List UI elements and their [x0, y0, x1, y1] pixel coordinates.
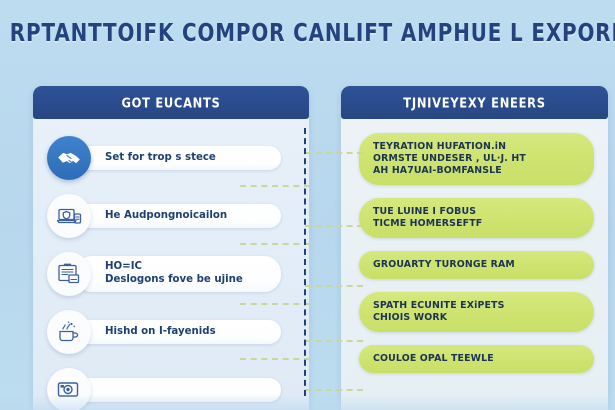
cup-steam-icon: [47, 310, 91, 354]
list-item-sublabel: ORMSTE UNDESER , UL·J. HT: [373, 153, 580, 165]
connector-branch-right-2: [305, 225, 363, 227]
poster-title: RPTANTTOIFK COMPOR CANLIFT AMPHUE L EXPO…: [10, 18, 615, 47]
right-column-panel: TJNIVEYEXY ENEERS TEYRATION HUFATION.iN …: [341, 86, 608, 410]
clipboard-document-icon: [47, 252, 91, 296]
connector-branch-left-4: [240, 358, 310, 360]
list-item[interactable]: TEYRATION HUFATION.iN ORMSTE UNDESER , U…: [359, 133, 594, 185]
list-item-label: Set for trop s stece: [105, 152, 265, 165]
list-item-label: TUE LUINE I FOBUS: [373, 206, 580, 218]
list-item-label: He Audpongnoicailon: [105, 210, 265, 223]
connector-branch-right-5: [305, 389, 363, 391]
connector-branch-left-1: [240, 185, 310, 187]
connector-branch-right-1: [305, 152, 363, 154]
list-item[interactable]: GROUARTY TURONGE RAM: [359, 251, 594, 279]
list-item-label: GROUARTY TURONGE RAM: [373, 259, 580, 271]
list-item[interactable]: COULOE OPAL TEEWLE: [359, 345, 594, 373]
handshake-icon: [47, 136, 91, 180]
connector-branch-right-4: [305, 340, 363, 342]
camera-device-icon: [47, 368, 91, 410]
list-item[interactable]: Hishd on I-fayenids: [33, 310, 309, 354]
list-item[interactable]: Set for trop s stece: [33, 136, 309, 180]
list-item-pill: [75, 378, 281, 402]
right-column-header-label: TJNIVEYEXY ENEERS: [403, 95, 545, 111]
left-column-list: Set for trop s stece He Audpongnoicailon: [33, 119, 309, 410]
connector-branch-right-3: [305, 285, 363, 287]
connector-branch-left-2: [240, 243, 310, 245]
left-column-header: GOT EUCANTS: [33, 86, 309, 119]
list-item[interactable]: TUE LUINE I FOBUS TICME HOMERSEFTF: [359, 198, 594, 238]
list-item-pill: Set for trop s stece: [75, 146, 281, 170]
list-item-pill: He Audpongnoicailon: [75, 204, 281, 228]
list-item[interactable]: HO=IC Deslogons fove be ujine: [33, 252, 309, 296]
list-item-pill: Hishd on I-fayenids: [75, 320, 281, 344]
left-column-panel: GOT EUCANTS Set for trop s stece: [33, 86, 309, 410]
list-item-label: SPATH ECUNITE EXiPETS: [373, 300, 580, 312]
list-item-label: Hishd on I-fayenids: [105, 326, 265, 339]
list-item-sublabel: Deslogons fove be ujine: [105, 274, 265, 287]
list-item-label: COULOE OPAL TEEWLE: [373, 353, 580, 365]
list-item-sublabel: TICME HOMERSEFTF: [373, 218, 580, 230]
connector-spine: [304, 128, 306, 396]
left-column-header-label: GOT EUCANTS: [121, 95, 220, 111]
infographic-poster: RPTANTTOIFK COMPOR CANLIFT AMPHUE L EXPO…: [0, 0, 615, 410]
list-item-pill: HO=IC Deslogons fove be ujine: [75, 256, 281, 291]
list-item[interactable]: [33, 368, 309, 410]
list-item-sublabel: CHIOIS WORK: [373, 312, 580, 324]
poster-title-container: RPTANTTOIFK COMPOR CANLIFT AMPHUE L EXPO…: [0, 18, 615, 42]
list-item[interactable]: SPATH ECUNITE EXiPETS CHIOIS WORK: [359, 292, 594, 332]
right-column-header: TJNIVEYEXY ENEERS: [341, 86, 608, 119]
laptop-shield-icon: [47, 194, 91, 238]
connector-branch-left-3: [240, 303, 310, 305]
right-column-list: TEYRATION HUFATION.iN ORMSTE UNDESER , U…: [341, 119, 608, 373]
list-item-label: HO=IC: [105, 261, 265, 274]
list-item[interactable]: He Audpongnoicailon: [33, 194, 309, 238]
list-item-sublabel-2: AH HA7UAI-BOMFANSLE: [373, 165, 580, 177]
list-item-label: TEYRATION HUFATION.iN: [373, 141, 580, 153]
